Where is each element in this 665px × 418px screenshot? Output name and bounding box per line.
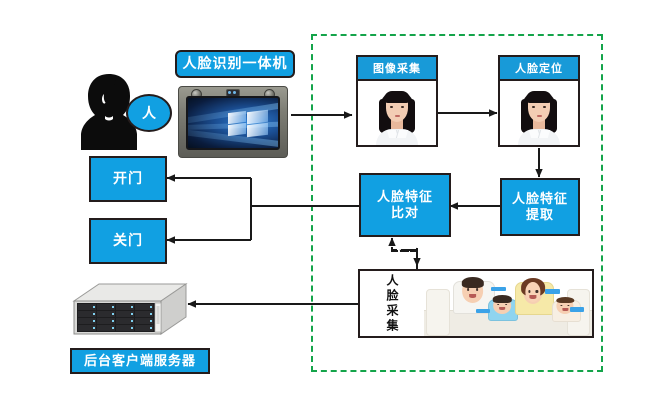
- feature-compare-box: 人脸特征 比对: [359, 173, 451, 237]
- face-recognition-terminal-icon: [178, 86, 288, 158]
- face-locate-photo: [500, 81, 578, 145]
- face-collection-card: 人脸采集: [358, 269, 594, 338]
- face-collection-title: 人脸采集: [360, 271, 424, 336]
- image-capture-card: 图像采集: [356, 55, 438, 147]
- door-open-box: 开门: [89, 156, 167, 202]
- image-capture-title: 图像采集: [358, 57, 436, 81]
- portrait-illustration: [375, 87, 419, 145]
- detect-tag: [476, 309, 489, 314]
- feature-compare-line2: 比对: [391, 205, 419, 221]
- rack-server-icon: [69, 281, 189, 343]
- detect-tag: [570, 307, 583, 312]
- sofa-arm-left: [426, 289, 450, 337]
- detect-tag: [545, 289, 560, 294]
- door-close-box: 关门: [89, 218, 167, 264]
- portrait-illustration: [517, 87, 561, 145]
- figure-mother: [515, 280, 552, 333]
- figure-father: [453, 279, 493, 334]
- figure-girl: [552, 298, 579, 333]
- person-badge: 人: [126, 94, 172, 132]
- server-caption-label: 后台客户端服务器: [70, 348, 210, 374]
- feature-extract-line2: 提取: [526, 207, 554, 223]
- image-capture-photo: [358, 81, 436, 145]
- detect-tag: [491, 287, 506, 292]
- family-group-photo: [424, 271, 592, 336]
- face-locate-card: 人脸定位: [498, 55, 580, 147]
- terminal-screen: [186, 96, 280, 150]
- feature-compare-line1: 人脸特征: [377, 189, 433, 205]
- feature-extract-box: 人脸特征 提取: [500, 178, 580, 236]
- diagram-canvas: 人脸识别一体机 人 开门: [0, 0, 665, 418]
- face-locate-title: 人脸定位: [500, 57, 578, 81]
- figure-boy: [488, 297, 517, 333]
- windows-logo-icon: [228, 111, 269, 136]
- terminal-title-label: 人脸识别一体机: [175, 50, 295, 78]
- feature-extract-line1: 人脸特征: [512, 191, 568, 207]
